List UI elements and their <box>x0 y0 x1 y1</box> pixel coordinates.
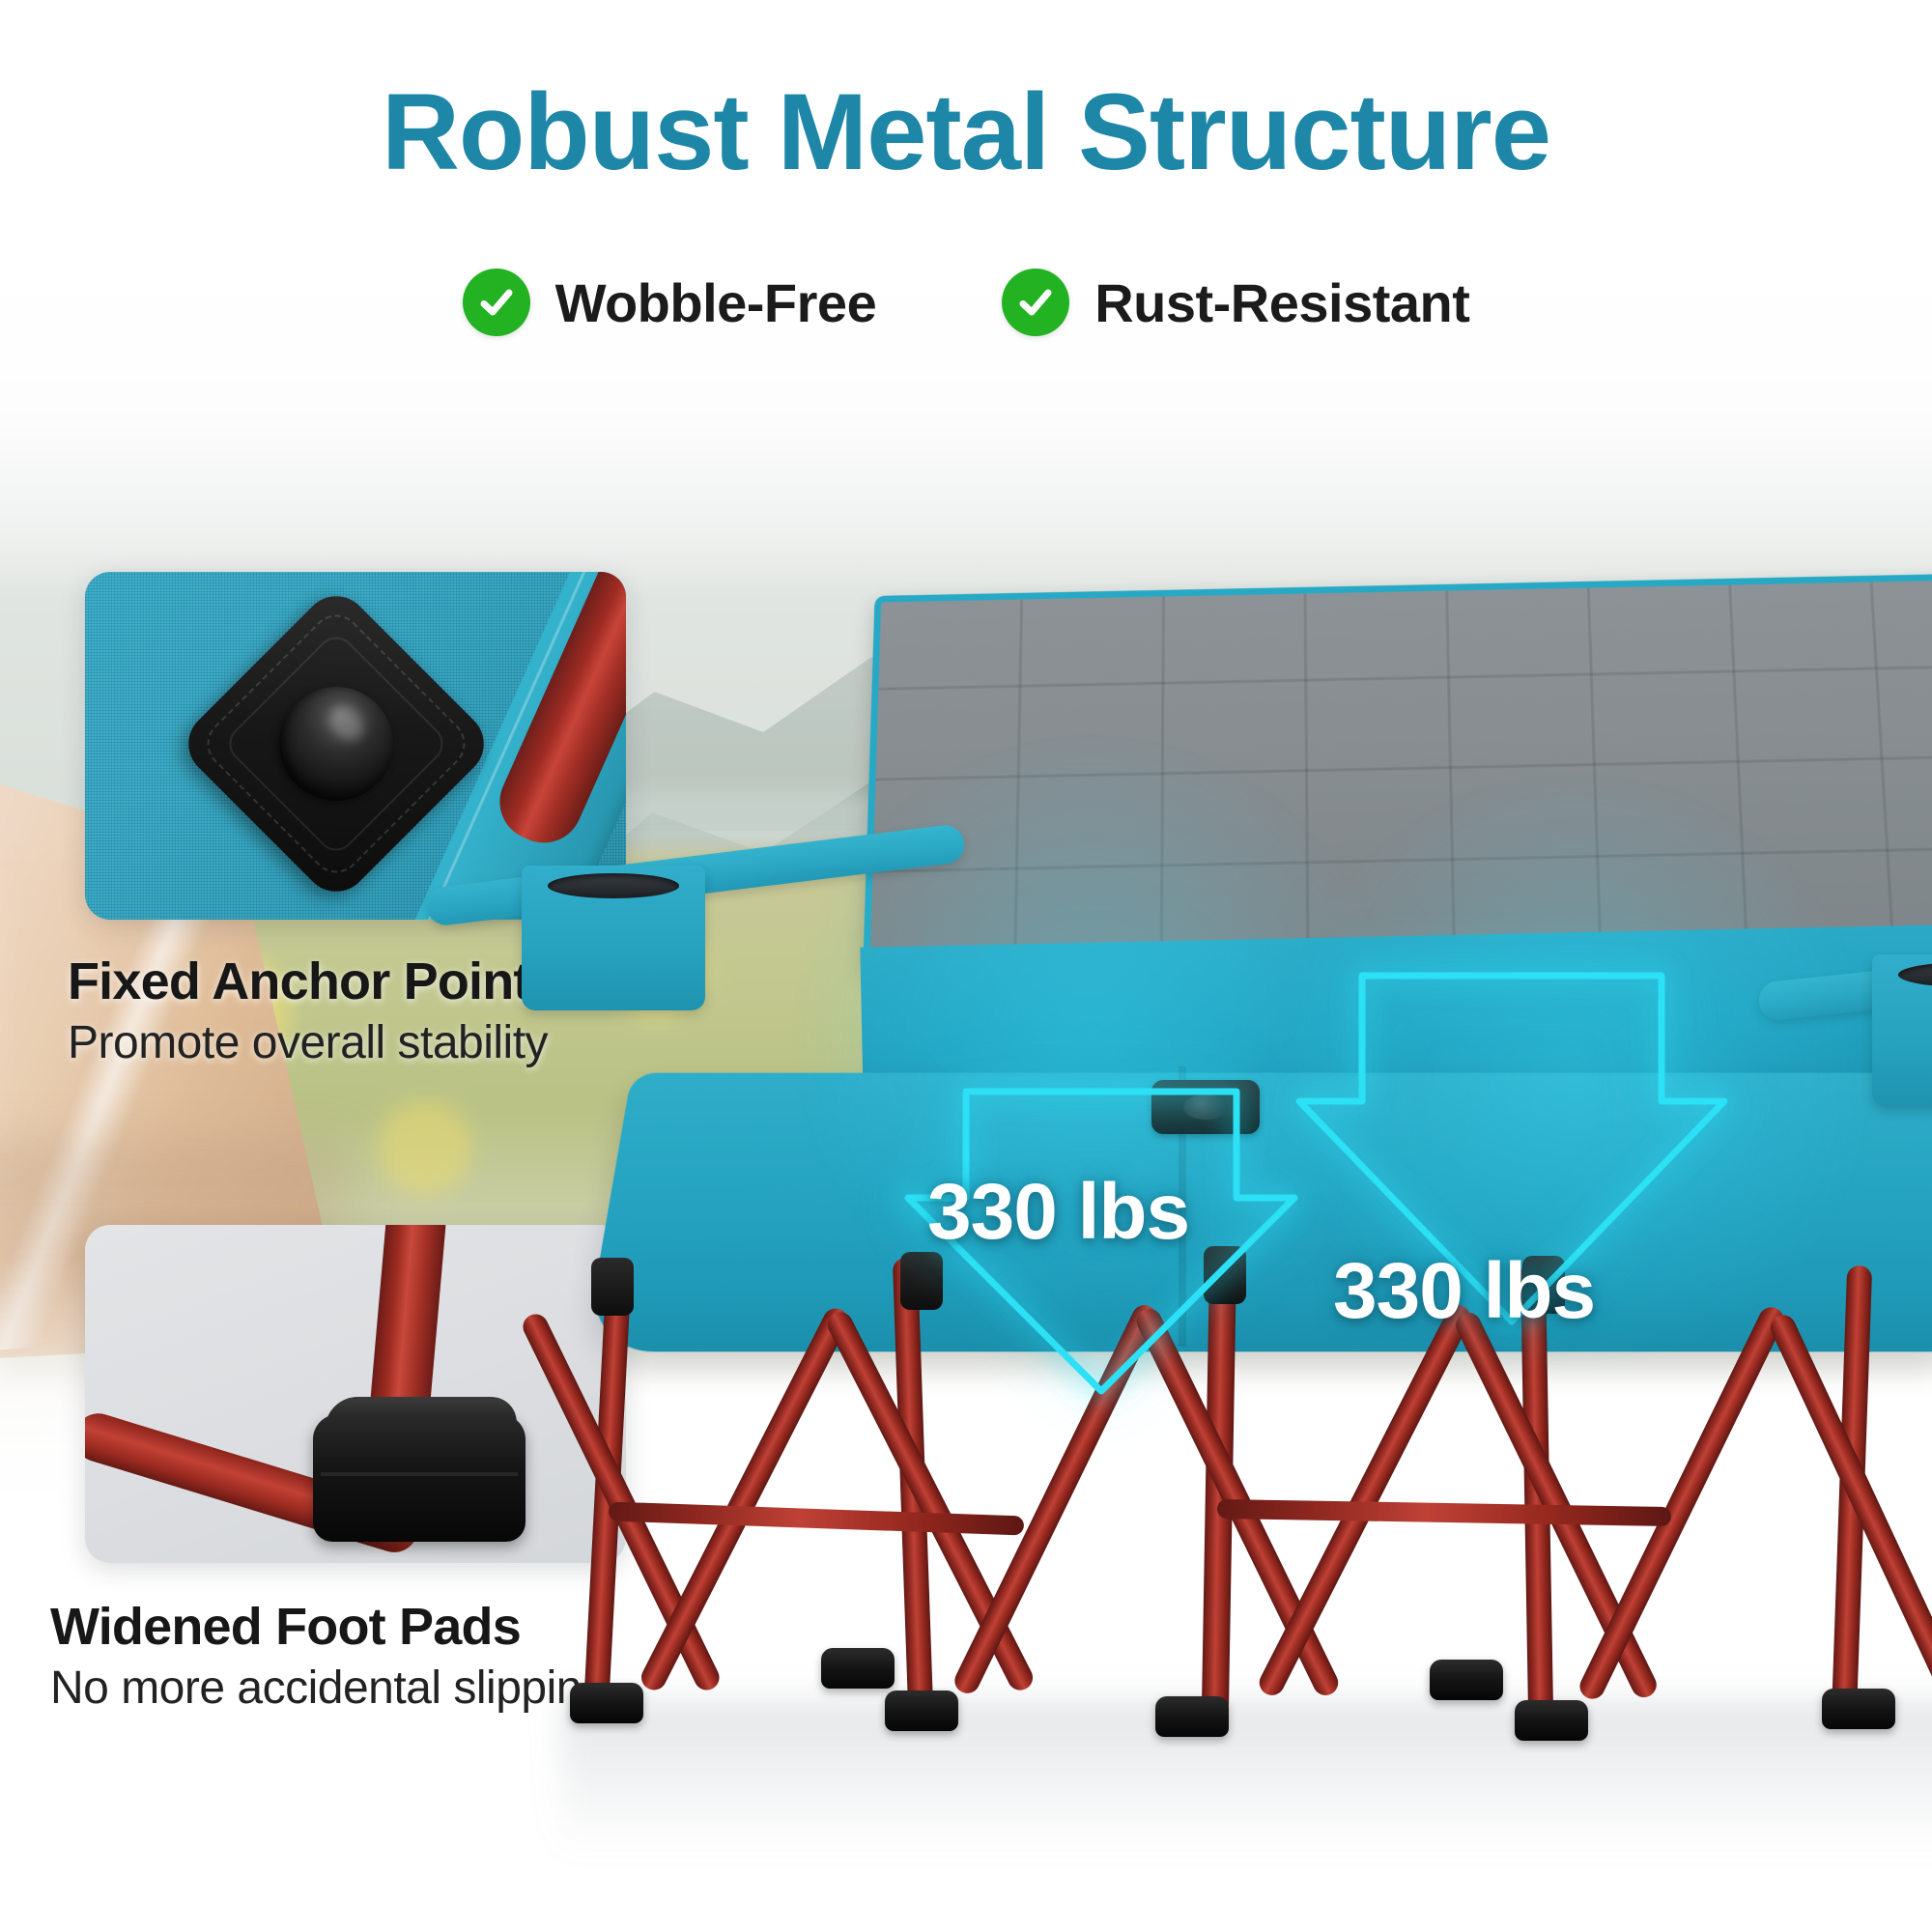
page-title: Robust Metal Structure <box>0 75 1932 189</box>
chair-foot-pad <box>1515 1700 1588 1741</box>
chair-leg-cross <box>1576 1303 1788 1703</box>
chair-foot-pad <box>1822 1689 1895 1729</box>
cup-holder-left <box>522 866 705 1010</box>
badge-rust-resistant: Rust-Resistant <box>1002 269 1469 336</box>
badge-label: Rust-Resistant <box>1094 271 1469 334</box>
leg-joint-collar <box>591 1258 634 1316</box>
chair-foot-pad <box>1155 1696 1229 1737</box>
chair-foot-pad <box>1430 1660 1503 1700</box>
product-infographic: Robust Metal Structure Wobble-Free Rust-… <box>0 0 1932 1932</box>
chair-leg-cross <box>638 1304 853 1694</box>
capacity-label-right: 330 lbs <box>1333 1246 1595 1337</box>
foot-pad-body <box>313 1414 526 1542</box>
chair-brace <box>609 1502 1024 1536</box>
badge-label: Wobble-Free <box>555 271 877 334</box>
chair-foot-pad <box>885 1690 958 1731</box>
feature-badge-list: Wobble-Free Rust-Resistant <box>0 269 1932 336</box>
badge-wobble-free: Wobble-Free <box>463 269 877 336</box>
chair-reflection <box>560 1700 1932 1893</box>
chair-backrest-quilted <box>863 573 1932 971</box>
cup-holder-right <box>1872 954 1932 1107</box>
chair-brace <box>1217 1499 1671 1526</box>
check-circle-icon <box>463 269 530 336</box>
check-circle-icon <box>1002 269 1069 336</box>
capacity-label-left: 330 lbs <box>927 1167 1189 1258</box>
chair-foot-pad <box>570 1683 643 1723</box>
anchor-rivet-icon <box>256 664 417 825</box>
chair-foot-pad <box>821 1648 895 1689</box>
